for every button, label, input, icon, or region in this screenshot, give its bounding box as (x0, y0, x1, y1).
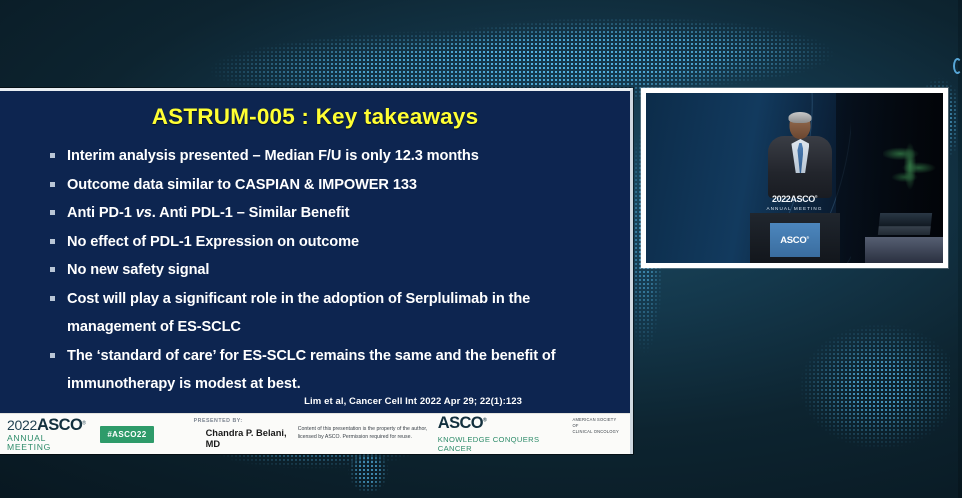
registered-trademark-icon: ® (483, 418, 486, 424)
bullet-item: Outcome data similar to CASPIAN & IMPOWE… (50, 171, 616, 200)
presented-by-label: PRESENTED BY: (194, 418, 298, 424)
podium-wordmark: 2022ASCO® (741, 195, 849, 204)
asco-logo-line1: 2022ASCO® (7, 417, 88, 434)
slide-footer-bar: 2022ASCO® ANNUAL MEETING #ASCO22 PRESENT… (0, 413, 630, 454)
bullet-item: No effect of PDL-1 Expression on outcome (50, 228, 616, 257)
world-map-dots-eurasia (430, 14, 860, 86)
right-edge-strip (958, 0, 962, 498)
presentation-viewer: ASTRUM-005 : Key takeaways Interim analy… (0, 0, 962, 498)
registered-trademark-icon: ® (806, 235, 808, 239)
bullet-text-tail: . Anti PDL-1 – Similar Benefit (152, 205, 350, 221)
presentation-slide[interactable]: ASTRUM-005 : Key takeaways Interim analy… (0, 88, 633, 454)
speaker-hair (789, 112, 812, 123)
asco-annual-meeting-logo: 2022ASCO® ANNUAL MEETING (7, 417, 88, 452)
presenter-name: Chandra P. Belani, MD (206, 428, 298, 449)
asco-society-wordmark: ASCO® (438, 415, 569, 432)
asco-society-name: ASCO (438, 414, 483, 432)
slide-citation: Lim et al, Cancer Cell Int 2022 Apr 29; … (304, 396, 522, 407)
speaker-video-panel[interactable]: 2022ASCO® ANNUAL MEETING ASCO® (641, 88, 948, 268)
bullet-text: Anti PD-1 (67, 205, 136, 221)
bullet-item: Cost will play a significant role in the… (50, 285, 616, 342)
speaker-video-frame: 2022ASCO® ANNUAL MEETING ASCO® (646, 93, 943, 263)
asco-society-fullname-line1: AMERICAN SOCIETY OF (573, 417, 621, 429)
podium-brand-name: ASCO (790, 194, 814, 204)
slide-title: ASTRUM-005 : Key takeaways (14, 91, 616, 130)
asco-society-logo: ASCO® KNOWLEDGE CONQUERS CANCER AMERICAN… (438, 415, 621, 453)
world-map-dots-southeast-asia (700, 300, 950, 480)
asco-logo-year: 2022 (7, 417, 37, 433)
slide-bullet-list: Interim analysis presented – Median F/U … (50, 142, 616, 399)
stage-plant (883, 121, 937, 199)
bullet-text: The ‘standard of care’ for ES-SCLC remai… (67, 348, 555, 393)
bullet-item: No new safety signal (50, 256, 616, 285)
stage-laptop (878, 213, 932, 235)
bullet-item: Anti PD-1 vs. Anti PDL-1 – Similar Benef… (50, 199, 616, 228)
podium-screen-text: ASCO® (780, 235, 809, 246)
bullet-text-emphasis: vs (136, 205, 152, 221)
asco-society-tagline: KNOWLEDGE CONQUERS CANCER (438, 435, 569, 453)
podium-screen-label: ASCO (780, 235, 806, 246)
podium-subtitle: ANNUAL MEETING (741, 206, 849, 211)
bullet-text: Interim analysis presented – Median F/U … (67, 148, 479, 164)
asco-logo-subtitle: ANNUAL MEETING (7, 434, 88, 451)
asco-society-fullname: AMERICAN SOCIETY OF CLINICAL ONCOLOGY (573, 417, 621, 435)
presenter-block: PRESENTED BY: Chandra P. Belani, MD (194, 418, 298, 449)
stage-side-table (865, 237, 943, 263)
podium-screen: ASCO® (770, 223, 820, 257)
rights-notice: Content of this presentation is the prop… (298, 426, 428, 442)
asco-society-fullname-line2: CLINICAL ONCOLOGY (573, 429, 621, 435)
bullet-item: Interim analysis presented – Median F/U … (50, 142, 616, 171)
bullet-item: The ‘standard of care’ for ES-SCLC remai… (50, 342, 616, 399)
refresh-icon[interactable] (953, 58, 962, 74)
bullet-text: No new safety signal (67, 262, 209, 278)
registered-trademark-icon: ® (82, 420, 85, 426)
bullet-text: Outcome data similar to CASPIAN & IMPOWE… (67, 177, 417, 193)
podium-year: 2022 (772, 194, 790, 204)
registered-trademark-icon: ® (815, 195, 817, 199)
asco-logo-wordmark: ASCO (37, 416, 82, 434)
bullet-text: Cost will play a significant role in the… (67, 291, 530, 336)
hashtag-badge: #ASCO22 (100, 426, 153, 443)
slide-content: ASTRUM-005 : Key takeaways Interim analy… (0, 91, 630, 413)
podium: 2022ASCO® ANNUAL MEETING ASCO® (741, 193, 849, 263)
bullet-text: No effect of PDL-1 Expression on outcome (67, 234, 359, 250)
